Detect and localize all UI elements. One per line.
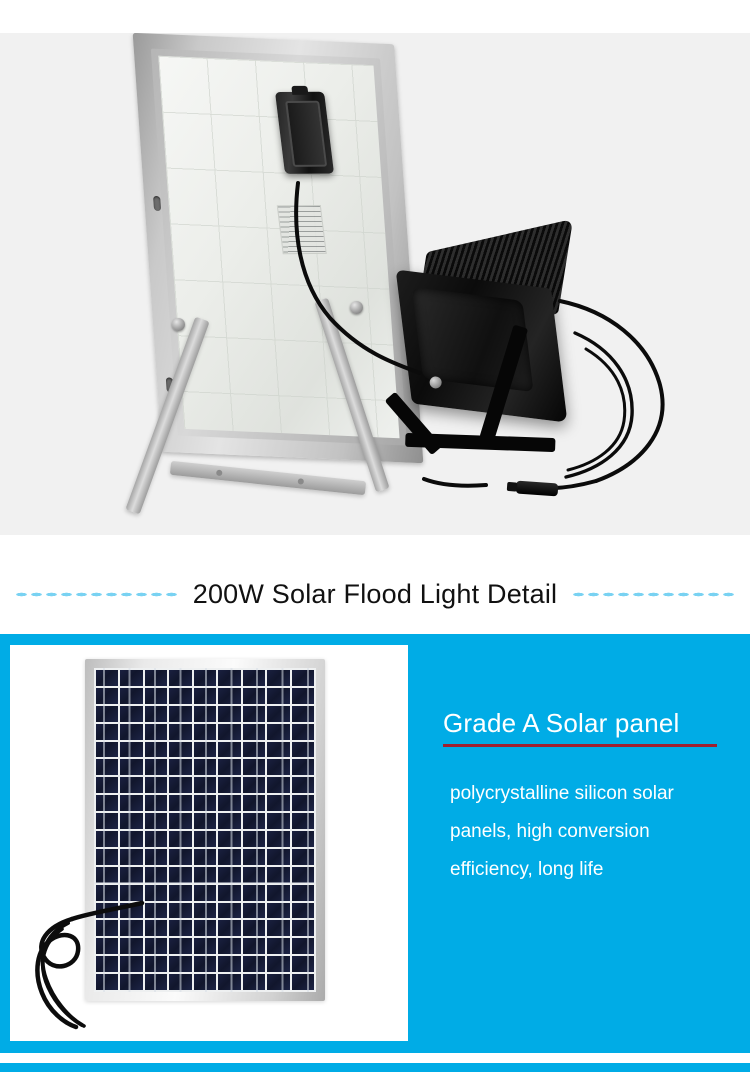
solar-cell — [96, 795, 118, 811]
solar-cell — [243, 831, 265, 847]
solar-cell — [145, 777, 167, 793]
solar-cell — [218, 724, 240, 740]
solar-cell — [243, 956, 265, 972]
solar-cell — [267, 813, 289, 829]
solar-cell — [145, 885, 167, 901]
solar-cell — [96, 742, 118, 758]
solar-cell — [194, 777, 216, 793]
solar-cell — [292, 670, 314, 686]
solar-cell — [169, 885, 191, 901]
junction-box — [275, 92, 334, 174]
solar-cell — [169, 670, 191, 686]
solar-cell — [267, 777, 289, 793]
feature-section: Grade A Solar panel polycrystalline sili… — [0, 634, 750, 1053]
solar-cell — [292, 831, 314, 847]
solar-cell — [218, 813, 240, 829]
solar-cell — [96, 759, 118, 775]
solar-cell — [243, 724, 265, 740]
solar-cell — [145, 795, 167, 811]
solar-cell — [267, 938, 289, 954]
panel-busbar — [94, 775, 316, 777]
feature-description: polycrystalline silicon solar panels, hi… — [443, 747, 733, 889]
solar-cell — [96, 849, 118, 865]
solar-cell — [218, 688, 240, 704]
stand-pivot-bolt — [350, 301, 363, 314]
stand-pivot-bolt — [172, 318, 185, 331]
solar-cell — [267, 974, 289, 990]
solar-cell — [120, 849, 142, 865]
solar-cell — [218, 742, 240, 758]
section-title-band: 200W Solar Flood Light Detail — [0, 535, 750, 634]
solar-cell — [194, 706, 216, 722]
solar-cell — [243, 849, 265, 865]
solar-cell — [218, 974, 240, 990]
solar-cell — [243, 777, 265, 793]
solar-cell — [243, 742, 265, 758]
solar-cell — [96, 867, 118, 883]
solar-cell — [267, 724, 289, 740]
solar-cell — [292, 938, 314, 954]
solar-cell — [145, 903, 167, 919]
solar-cell — [145, 670, 167, 686]
solar-cell — [194, 724, 216, 740]
solar-cell — [169, 742, 191, 758]
solar-cell — [120, 777, 142, 793]
solar-cell — [169, 867, 191, 883]
panel-busbar — [94, 882, 316, 884]
solar-cell — [169, 777, 191, 793]
solar-cell — [145, 849, 167, 865]
solar-cell — [169, 903, 191, 919]
solar-cell — [169, 974, 191, 990]
feature-copy-block: Grade A Solar panel polycrystalline sili… — [443, 634, 733, 889]
solar-cell — [145, 706, 167, 722]
solar-cell — [243, 813, 265, 829]
bottom-blue-band — [0, 1063, 750, 1072]
solar-cell — [145, 742, 167, 758]
solar-cell — [120, 742, 142, 758]
solar-cell — [292, 903, 314, 919]
solar-cell — [267, 759, 289, 775]
solar-cell — [243, 759, 265, 775]
solar-cell — [243, 670, 265, 686]
solar-cell — [120, 724, 142, 740]
solar-cell — [218, 670, 240, 686]
solar-cell — [243, 920, 265, 936]
solar-cell — [292, 867, 314, 883]
solar-cell — [194, 813, 216, 829]
solar-cell — [120, 867, 142, 883]
page-title: 200W Solar Flood Light Detail — [193, 579, 558, 610]
solar-cell — [292, 849, 314, 865]
solar-cell — [243, 903, 265, 919]
solar-cell — [243, 867, 265, 883]
solar-cell — [267, 706, 289, 722]
solar-cell — [120, 670, 142, 686]
solar-cell — [267, 885, 289, 901]
solar-cell — [96, 688, 118, 704]
hero-product-photo — [0, 33, 750, 535]
panel-mount-hole — [153, 196, 161, 211]
solar-cell — [218, 956, 240, 972]
solar-cell — [194, 938, 216, 954]
dotted-divider-right — [571, 592, 736, 597]
solar-cell — [292, 795, 314, 811]
solar-cell — [145, 724, 167, 740]
solar-cell — [96, 670, 118, 686]
flood-light-housing — [396, 270, 568, 423]
solar-cell — [243, 795, 265, 811]
stand-cross-bar — [170, 461, 366, 495]
solar-cell — [145, 688, 167, 704]
solar-cell — [243, 706, 265, 722]
solar-cell — [96, 724, 118, 740]
solar-cell — [218, 885, 240, 901]
panel-output-cable — [16, 895, 146, 1035]
solar-cell — [194, 831, 216, 847]
solar-cell — [292, 688, 314, 704]
solar-cell — [194, 956, 216, 972]
solar-cell — [194, 795, 216, 811]
solar-cell — [267, 956, 289, 972]
solar-cell — [169, 813, 191, 829]
solar-cell — [267, 920, 289, 936]
solar-cell — [145, 831, 167, 847]
solar-cell — [120, 813, 142, 829]
solar-cell — [169, 920, 191, 936]
solar-cell — [194, 974, 216, 990]
solar-cell — [194, 885, 216, 901]
solar-cell — [292, 742, 314, 758]
solar-cell — [169, 759, 191, 775]
flood-light-image — [387, 228, 584, 438]
top-white-margin — [0, 0, 750, 33]
solar-cell — [194, 867, 216, 883]
solar-cell — [218, 867, 240, 883]
solar-cell — [267, 831, 289, 847]
solar-cell — [218, 938, 240, 954]
solar-cell — [292, 759, 314, 775]
cable-connector — [516, 481, 559, 497]
solar-cell — [292, 724, 314, 740]
solar-cell — [218, 795, 240, 811]
white-gap-band — [0, 1053, 750, 1063]
solar-cell — [218, 903, 240, 919]
solar-cell — [218, 920, 240, 936]
solar-cell — [243, 688, 265, 704]
solar-cell — [292, 956, 314, 972]
solar-cell — [96, 706, 118, 722]
solar-cell — [145, 974, 167, 990]
solar-cell — [292, 974, 314, 990]
feature-heading: Grade A Solar panel — [443, 634, 733, 738]
solar-cell — [96, 777, 118, 793]
solar-cell — [243, 938, 265, 954]
solar-cell — [194, 849, 216, 865]
solar-cell — [120, 831, 142, 847]
solar-cell — [267, 670, 289, 686]
solar-cell — [267, 795, 289, 811]
solar-cell — [145, 920, 167, 936]
solar-cell — [267, 903, 289, 919]
solar-cell — [194, 688, 216, 704]
solar-cell — [267, 849, 289, 865]
solar-cell — [120, 795, 142, 811]
solar-cell — [292, 920, 314, 936]
solar-cell — [218, 831, 240, 847]
solar-cell — [218, 759, 240, 775]
solar-cell — [96, 813, 118, 829]
dotted-divider-left — [14, 592, 179, 597]
solar-cell — [169, 956, 191, 972]
solar-cell — [169, 938, 191, 954]
solar-cell — [169, 849, 191, 865]
panel-spec-label — [277, 205, 327, 254]
solar-cell — [218, 849, 240, 865]
solar-cell — [243, 974, 265, 990]
solar-panel-front-photo — [10, 645, 408, 1041]
solar-cell — [292, 813, 314, 829]
solar-cell — [120, 688, 142, 704]
solar-cell — [169, 706, 191, 722]
solar-cell — [120, 759, 142, 775]
solar-cell — [169, 831, 191, 847]
solar-cell — [267, 867, 289, 883]
solar-cell — [145, 938, 167, 954]
solar-cell — [194, 903, 216, 919]
solar-cell — [267, 742, 289, 758]
solar-cell — [243, 885, 265, 901]
solar-cell — [169, 724, 191, 740]
solar-cell — [194, 920, 216, 936]
solar-cell — [145, 867, 167, 883]
solar-cell — [194, 759, 216, 775]
solar-cell — [145, 813, 167, 829]
solar-cell — [169, 688, 191, 704]
solar-cell — [145, 759, 167, 775]
solar-cell — [120, 706, 142, 722]
solar-cell — [96, 831, 118, 847]
solar-cell — [218, 777, 240, 793]
solar-cell — [292, 777, 314, 793]
solar-cell — [194, 742, 216, 758]
solar-cell — [145, 956, 167, 972]
solar-cell — [292, 885, 314, 901]
solar-cell — [169, 795, 191, 811]
solar-cell — [218, 706, 240, 722]
solar-cell — [292, 706, 314, 722]
solar-cell — [267, 688, 289, 704]
solar-cell — [194, 670, 216, 686]
